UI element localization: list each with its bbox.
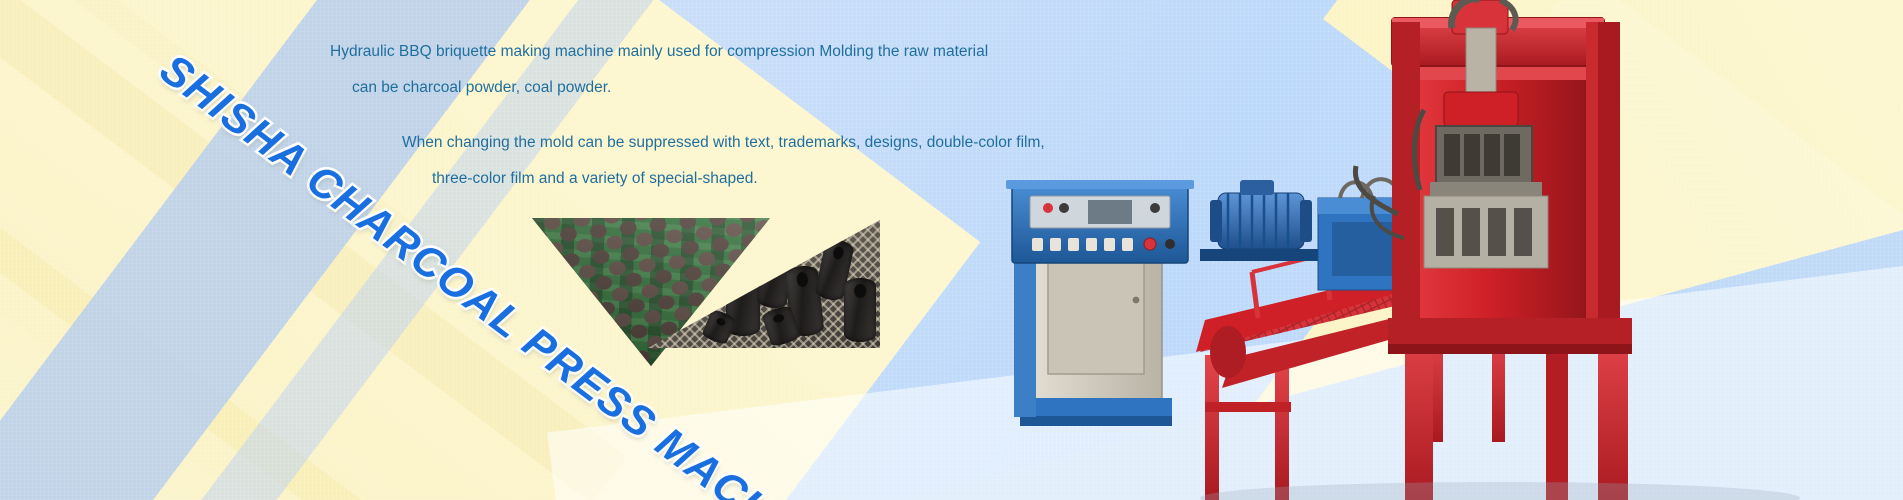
- mold-box: [1424, 126, 1548, 268]
- hydraulic-charcoal-press-machine: [0, 0, 1903, 500]
- electric-motor: [1200, 180, 1320, 261]
- machine-shadow: [1200, 482, 1800, 500]
- product-banner: SHISHA CHARCOAL PRESS MACHINE Hydraulic …: [0, 0, 1903, 500]
- control-panel: [1006, 180, 1194, 263]
